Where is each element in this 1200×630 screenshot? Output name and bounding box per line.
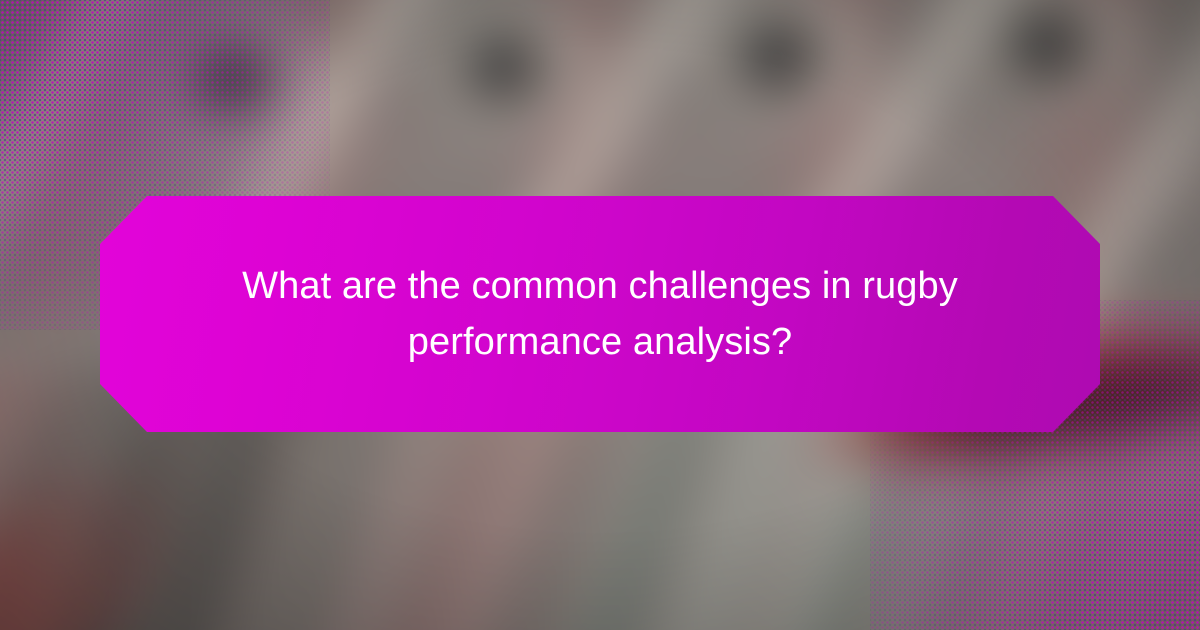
page-title: What are the common challenges in rugby … bbox=[230, 258, 970, 370]
headline-banner: What are the common challenges in rugby … bbox=[100, 196, 1100, 432]
question-card-canvas: What are the common challenges in rugby … bbox=[0, 0, 1200, 630]
